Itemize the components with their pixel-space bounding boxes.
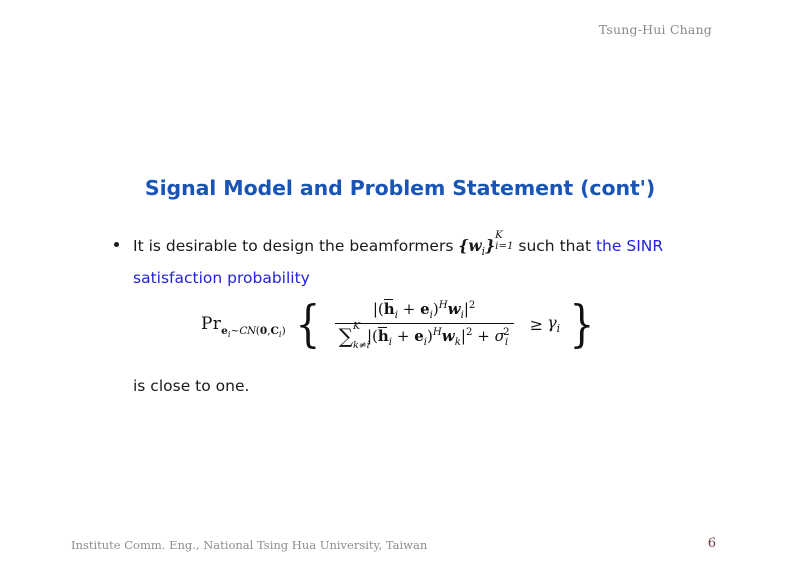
probability-operator: Pr	[201, 314, 221, 334]
num-channel-vector: h	[384, 300, 395, 318]
page-title: Signal Model and Problem Statement (cont…	[0, 176, 800, 200]
math-limits: Ki=1	[495, 234, 513, 255]
bullet-highlight-part1: the	[596, 237, 621, 255]
subscript-covariance: C	[271, 325, 279, 337]
den-plus: +	[392, 327, 414, 345]
sigma-glyph: ∑	[339, 327, 353, 346]
bullet-dot-icon	[114, 242, 119, 247]
slide-body: It is desirable to design the beamformer…	[112, 233, 692, 291]
bullet-text-after-label: such that	[518, 237, 591, 255]
footer-affiliation: Institute Comm. Eng., National Tsing Hua…	[71, 538, 427, 552]
display-equation: Prei~CN(0,Ci) { |(hi + ei)Hwi|2 ∑Kk≠i|(h…	[0, 300, 800, 348]
num-hermitian: H	[439, 300, 448, 311]
presentation-slide: Tsung-Hui Chang Signal Model and Problem…	[0, 0, 800, 565]
fraction-denominator: ∑Kk≠i|(hi + ei)Hwk|2 + σi2	[335, 324, 514, 348]
page-number: 6	[708, 536, 716, 551]
list-item: It is desirable to design the beamformer…	[112, 233, 692, 291]
subscript-distribution: CN	[239, 325, 255, 337]
math-limit-bottom: i=1	[495, 242, 513, 252]
equation-fraction: |(hi + ei)Hwi|2 ∑Kk≠i|(hi + ei)Hwk|2 + σ…	[335, 300, 514, 348]
subscript-close-paren: )	[282, 325, 286, 337]
den-noise-index: i	[505, 337, 508, 348]
probability-subscript: ei~CN(0,Ci)	[221, 325, 286, 337]
den-plus-noise-sign: +	[477, 327, 490, 345]
equation-left-brace: {	[295, 306, 320, 342]
subscript-error-vector: e	[221, 325, 228, 337]
den-plus-sign: +	[397, 327, 410, 345]
sum-upper-limit: K	[353, 321, 360, 332]
fraction-numerator: |(hi + ei)Hwi|2	[335, 300, 514, 323]
den-channel-vector: h	[378, 327, 389, 345]
num-plus: +	[398, 300, 420, 318]
inline-math-beamformer-set: {wi}Ki=1	[453, 237, 513, 255]
closing-line: is close to one.	[133, 377, 249, 395]
equation-threshold-group: γi	[547, 313, 560, 335]
sum-lower-limit: k≠i	[353, 340, 370, 351]
den-beamformer: w	[442, 327, 455, 345]
probability-operator-group: Prei~CN(0,Ci)	[201, 314, 286, 334]
author-header: Tsung-Hui Chang	[599, 22, 712, 37]
bullet-text-before: It is desirable to design the beamformer…	[133, 237, 453, 255]
math-close-brace: }	[485, 236, 495, 255]
equation-inner: Prei~CN(0,Ci) { |(hi + ei)Hwi|2 ∑Kk≠i|(h…	[201, 300, 599, 348]
summation-operator: ∑Kk≠i	[339, 327, 353, 347]
math-vector-w: w	[468, 236, 481, 255]
den-noise-power: 2	[503, 327, 509, 338]
equation-right-brace: }	[570, 306, 595, 342]
num-power: 2	[469, 300, 475, 311]
den-hermitian: H	[433, 327, 442, 338]
equation-threshold: γ	[547, 313, 557, 332]
equation-relation: ≥	[530, 315, 543, 334]
math-limit-top: K	[495, 231, 513, 241]
num-beamformer: w	[448, 300, 461, 318]
num-error-vector: e	[420, 300, 430, 318]
math-open-brace: {	[458, 236, 468, 255]
den-plus-noise: +	[472, 327, 494, 345]
num-plus-sign: +	[403, 300, 416, 318]
equation-threshold-index: i	[557, 322, 560, 335]
bullet-text-after: such that	[513, 237, 591, 255]
den-noise-group: σi2	[495, 327, 510, 345]
den-error-vector: e	[414, 327, 424, 345]
